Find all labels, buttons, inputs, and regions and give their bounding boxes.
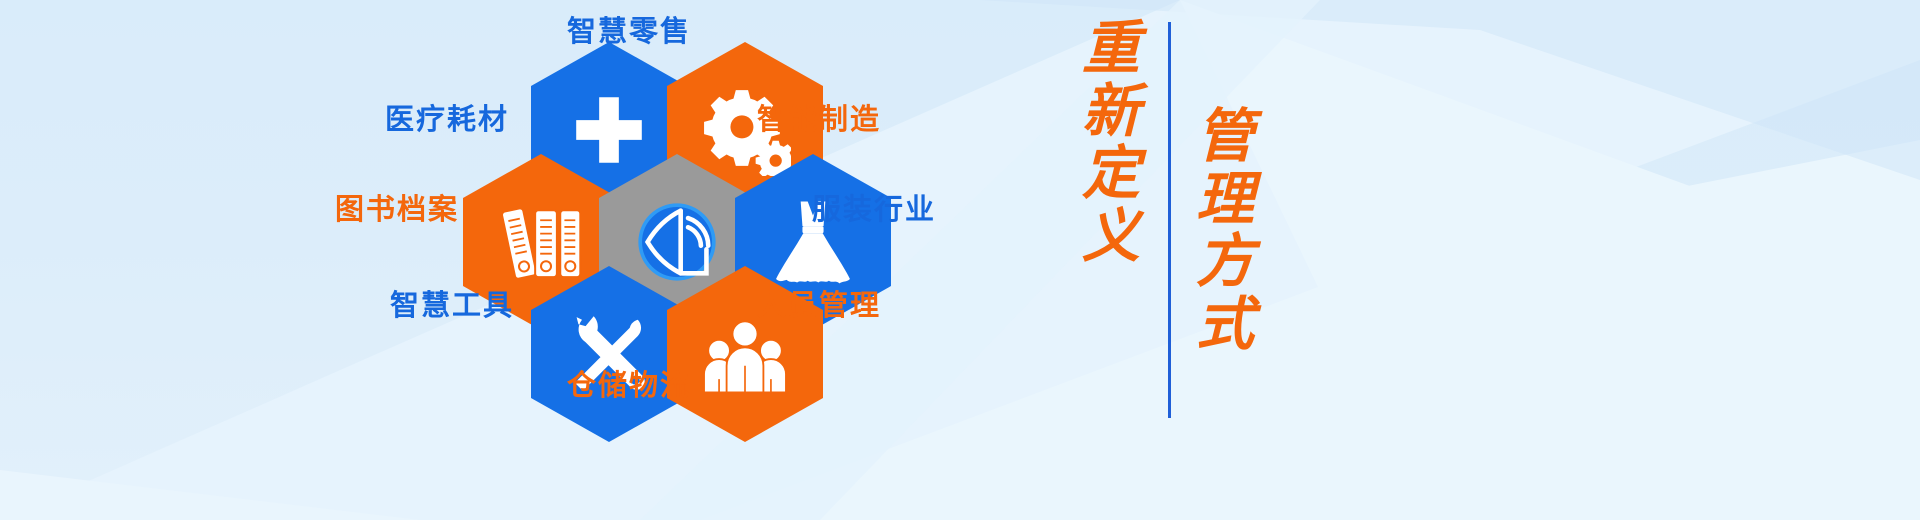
slogan-char-1: 重 (1070, 18, 1152, 81)
label-tools: 智慧工具 (390, 292, 514, 321)
slogan-block: 重 新 定 义 管 理 方 式 (1060, 10, 1320, 430)
label-logistics: 仓储物流 (567, 372, 691, 401)
slogan-column-left: 管 理 方 式 (1184, 106, 1266, 357)
binder-files-icon (495, 199, 587, 285)
medical-cross-icon (568, 89, 650, 171)
background-diagonal-bands (0, 0, 1920, 520)
slogan-char-7: 方 (1184, 231, 1266, 294)
company-logo-icon (631, 196, 723, 288)
slogan-char-6: 理 (1184, 169, 1266, 232)
slogan-char-8: 式 (1184, 294, 1266, 357)
slogan-column-right: 重 新 定 义 (1070, 18, 1152, 269)
banner-root: 智慧零售 医疗耗材 智能制造 图书档案 服装行业 智慧工具 人员管理 仓储物流 … (0, 0, 1920, 520)
slogan-divider (1168, 22, 1171, 418)
label-medical: 医疗耗材 (385, 106, 509, 135)
slogan-char-2: 新 (1070, 81, 1152, 144)
label-apparel: 服装行业 (812, 196, 936, 225)
slogan-char-5: 管 (1184, 106, 1266, 169)
label-people: 人员管理 (757, 292, 881, 321)
label-manufacturing: 智能制造 (757, 106, 881, 135)
label-retail: 智慧零售 (567, 18, 691, 47)
people-group-icon (699, 312, 791, 396)
slogan-char-4: 义 (1070, 206, 1152, 269)
slogan-char-3: 定 (1070, 143, 1152, 206)
label-books: 图书档案 (335, 196, 459, 225)
